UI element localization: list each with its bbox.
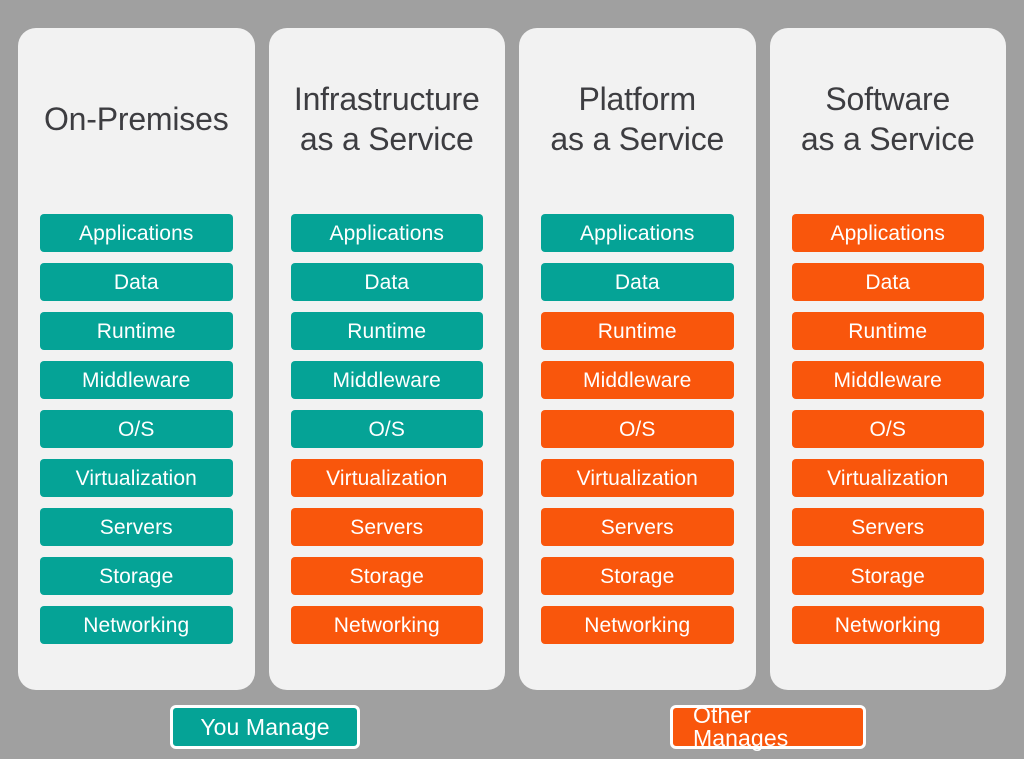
responsibility-stack: ApplicationsDataRuntimeMiddlewareO/SVirt…: [541, 214, 734, 658]
stack-layer: O/S: [40, 410, 233, 448]
service-model-card: Platform as a ServiceApplicationsDataRun…: [519, 28, 756, 690]
stack-layer: Storage: [541, 557, 734, 595]
stack-layer: Runtime: [40, 312, 233, 350]
stack-layer: Data: [40, 263, 233, 301]
stack-layer: O/S: [291, 410, 484, 448]
card-title: Platform as a Service: [541, 28, 734, 214]
diagram-canvas: On-PremisesApplicationsDataRuntimeMiddle…: [0, 0, 1024, 759]
stack-layer: Middleware: [291, 361, 484, 399]
card-title: Infrastructure as a Service: [291, 28, 484, 214]
stack-layer: Storage: [40, 557, 233, 595]
stack-layer: Servers: [792, 508, 985, 546]
stack-layer: Storage: [792, 557, 985, 595]
responsibility-stack: ApplicationsDataRuntimeMiddlewareO/SVirt…: [792, 214, 985, 658]
service-model-card: On-PremisesApplicationsDataRuntimeMiddle…: [18, 28, 255, 690]
stack-layer: Storage: [291, 557, 484, 595]
stack-layer: Virtualization: [291, 459, 484, 497]
legend-other-manages-chip: Other Manages: [670, 705, 866, 749]
stack-layer: Virtualization: [541, 459, 734, 497]
stack-layer: Servers: [291, 508, 484, 546]
stack-layer: Networking: [541, 606, 734, 644]
service-model-card: Software as a ServiceApplicationsDataRun…: [770, 28, 1007, 690]
stack-layer: Data: [541, 263, 734, 301]
card-title: Software as a Service: [792, 28, 985, 214]
legend-you-manage: You Manage: [170, 705, 360, 749]
stack-layer: O/S: [541, 410, 734, 448]
stack-layer: Networking: [792, 606, 985, 644]
responsibility-stack: ApplicationsDataRuntimeMiddlewareO/SVirt…: [40, 214, 233, 658]
stack-layer: Applications: [291, 214, 484, 252]
stack-layer: Runtime: [541, 312, 734, 350]
stack-layer: Middleware: [792, 361, 985, 399]
legend-other-manages: Other Manages: [670, 705, 866, 749]
stack-layer: Servers: [40, 508, 233, 546]
stack-layer: Networking: [40, 606, 233, 644]
stack-layer: Middleware: [541, 361, 734, 399]
card-title: On-Premises: [40, 28, 233, 214]
stack-layer: Data: [792, 263, 985, 301]
stack-layer: Networking: [291, 606, 484, 644]
stack-layer: Servers: [541, 508, 734, 546]
stack-layer: Applications: [541, 214, 734, 252]
stack-layer: Applications: [40, 214, 233, 252]
stack-layer: Middleware: [40, 361, 233, 399]
responsibility-stack: ApplicationsDataRuntimeMiddlewareO/SVirt…: [291, 214, 484, 658]
stack-layer: Applications: [792, 214, 985, 252]
legend-you-manage-chip: You Manage: [170, 705, 360, 749]
service-model-columns: On-PremisesApplicationsDataRuntimeMiddle…: [18, 28, 1006, 690]
stack-layer: Runtime: [792, 312, 985, 350]
stack-layer: Runtime: [291, 312, 484, 350]
stack-layer: Virtualization: [40, 459, 233, 497]
stack-layer: Data: [291, 263, 484, 301]
stack-layer: O/S: [792, 410, 985, 448]
stack-layer: Virtualization: [792, 459, 985, 497]
service-model-card: Infrastructure as a ServiceApplicationsD…: [269, 28, 506, 690]
